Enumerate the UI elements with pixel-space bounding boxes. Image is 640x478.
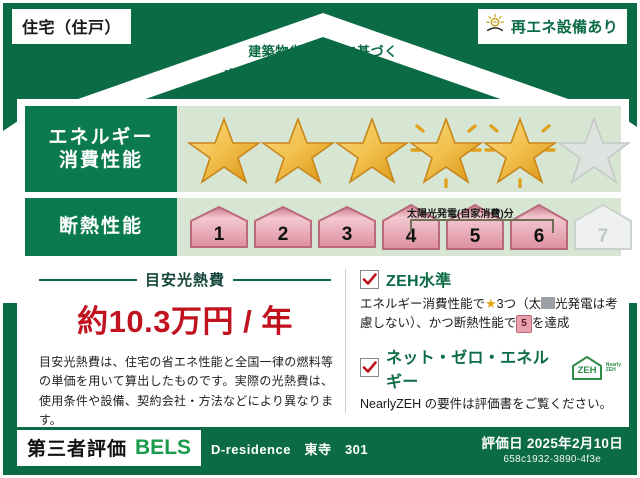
energy-category-chip: エネルギー 消費性能 [25,106,177,192]
net-zero-body: NearlyZEH の要件は評価書をご覧ください。 [360,395,621,414]
zeh-standard-body: エネルギー消費性能で★3つ（太光発電は考慮しない）、かつ断熱性能で5を達成 [360,294,621,334]
label-card: エネルギー 消費性能 [17,99,629,427]
grade-number: 3 [317,224,377,246]
star-filled [261,110,335,188]
solar-bracket [410,219,554,233]
svg-text:ZEH: ZEH [577,365,596,376]
label-title: 省エネ性能ラベル [3,62,640,98]
insulation-category-chip: 断熱性能 [25,198,177,256]
label-bottom-section: 目安光熱費 約10.3万円 / 年 目安光熱費は、住宅の省エネ性能と全国一律の燃… [25,263,621,419]
energy-performance-label: 住宅（住戸） 再エネ設備あり 建築物省エネ法に基づく 省エネ性能ラベル [0,0,640,478]
utility-cost-note: 目安光熱費は、住宅の省エネ性能と全国一律の燃料等の単価を用いて算出したものです。… [39,353,333,431]
renewable-equipment-badge: 再エネ設備あり [478,9,627,44]
grade-number: 7 [573,226,633,248]
property-name: D-residence 東寺 301 [211,439,368,458]
insulation-grade-badge: 1 [189,205,249,249]
evaluation-date: 評価日 2025年2月10日 [481,432,623,452]
zeh-body-pre: エネルギー消費性能で [360,297,485,311]
bels-jp-label: 第三者評価 [27,434,127,461]
solar-generation-note: 太陽光発電(自家消費)分 [407,205,514,220]
dwelling-type-tag: 住宅（住戸） [12,9,131,44]
zeh-body-end: を達成 [532,316,570,330]
utility-cost-block: 目安光熱費 約10.3万円 / 年 目安光熱費は、住宅の省エネ性能と全国一律の燃… [25,263,345,419]
certification-block: ZEH水準 エネルギー消費性能で★3つ（太光発電は考慮しない）、かつ断熱性能で5… [356,263,621,419]
evaluation-id: 658c1932-3890-4f3e [481,454,623,465]
energy-category-line1: エネルギー [48,126,153,149]
bels-logo-text: BELS [135,436,191,460]
zeh-logo-sub2: ZEH [606,368,621,373]
star-rating [177,106,631,192]
footer-left: 第三者評価 BELS D-residence 東寺 301 [17,430,368,466]
net-zero-heading: ネット・ゼロ・エネルギー ZEH Nearly ZEH [360,344,621,392]
star-filled-solar [409,110,483,188]
vertical-divider [345,269,346,413]
zeh-standard-title: ZEH水準 [386,267,452,291]
insulation-grade-scale: 1 2 3 4 [177,198,633,256]
check-icon [360,270,379,289]
zeh-standard-heading: ZEH水準 [360,267,621,291]
grade-number: 1 [189,224,249,246]
utility-cost-heading: 目安光熱費 [39,269,331,290]
energy-performance-row: エネルギー 消費性能 [25,106,621,192]
insulation-grade-badge: 3 [317,205,377,249]
renewable-badge-label: 再エネ設備あり [511,16,618,37]
star-filled [335,110,409,188]
sun-icon [484,13,506,40]
check-icon [360,358,379,377]
star-empty [557,110,631,188]
mini-star-icon: ★ [485,296,497,311]
mini-grade-badge: 5 [516,315,532,333]
rule-left [39,279,137,281]
zeh-house-logo: ZEH Nearly ZEH [570,355,621,381]
insulation-grade-badge: 2 [253,205,313,249]
net-zero-title: ネット・ゼロ・エネルギー [386,344,563,392]
rule-right [233,279,331,281]
grade-number: 2 [253,224,313,246]
utility-cost-value: 約10.3万円 / 年 [25,296,345,341]
insulation-category-label: 断熱性能 [59,215,143,238]
footer-right: 評価日 2025年2月10日 658c1932-3890-4f3e [481,432,623,465]
redacted-character [541,297,555,309]
utility-cost-label: 目安光熱費 [145,269,225,290]
insulation-grade-badge-inactive: 7 [573,203,633,251]
energy-category-line2: 消費性能 [59,149,143,172]
star-filled [187,110,261,188]
bels-badge: 第三者評価 BELS [17,430,201,466]
star-filled-solar [483,110,557,188]
zeh-body-mid1: 3つ（太 [497,297,541,311]
label-title-block: 建築物省エネ法に基づく 省エネ性能ラベル [3,41,640,98]
